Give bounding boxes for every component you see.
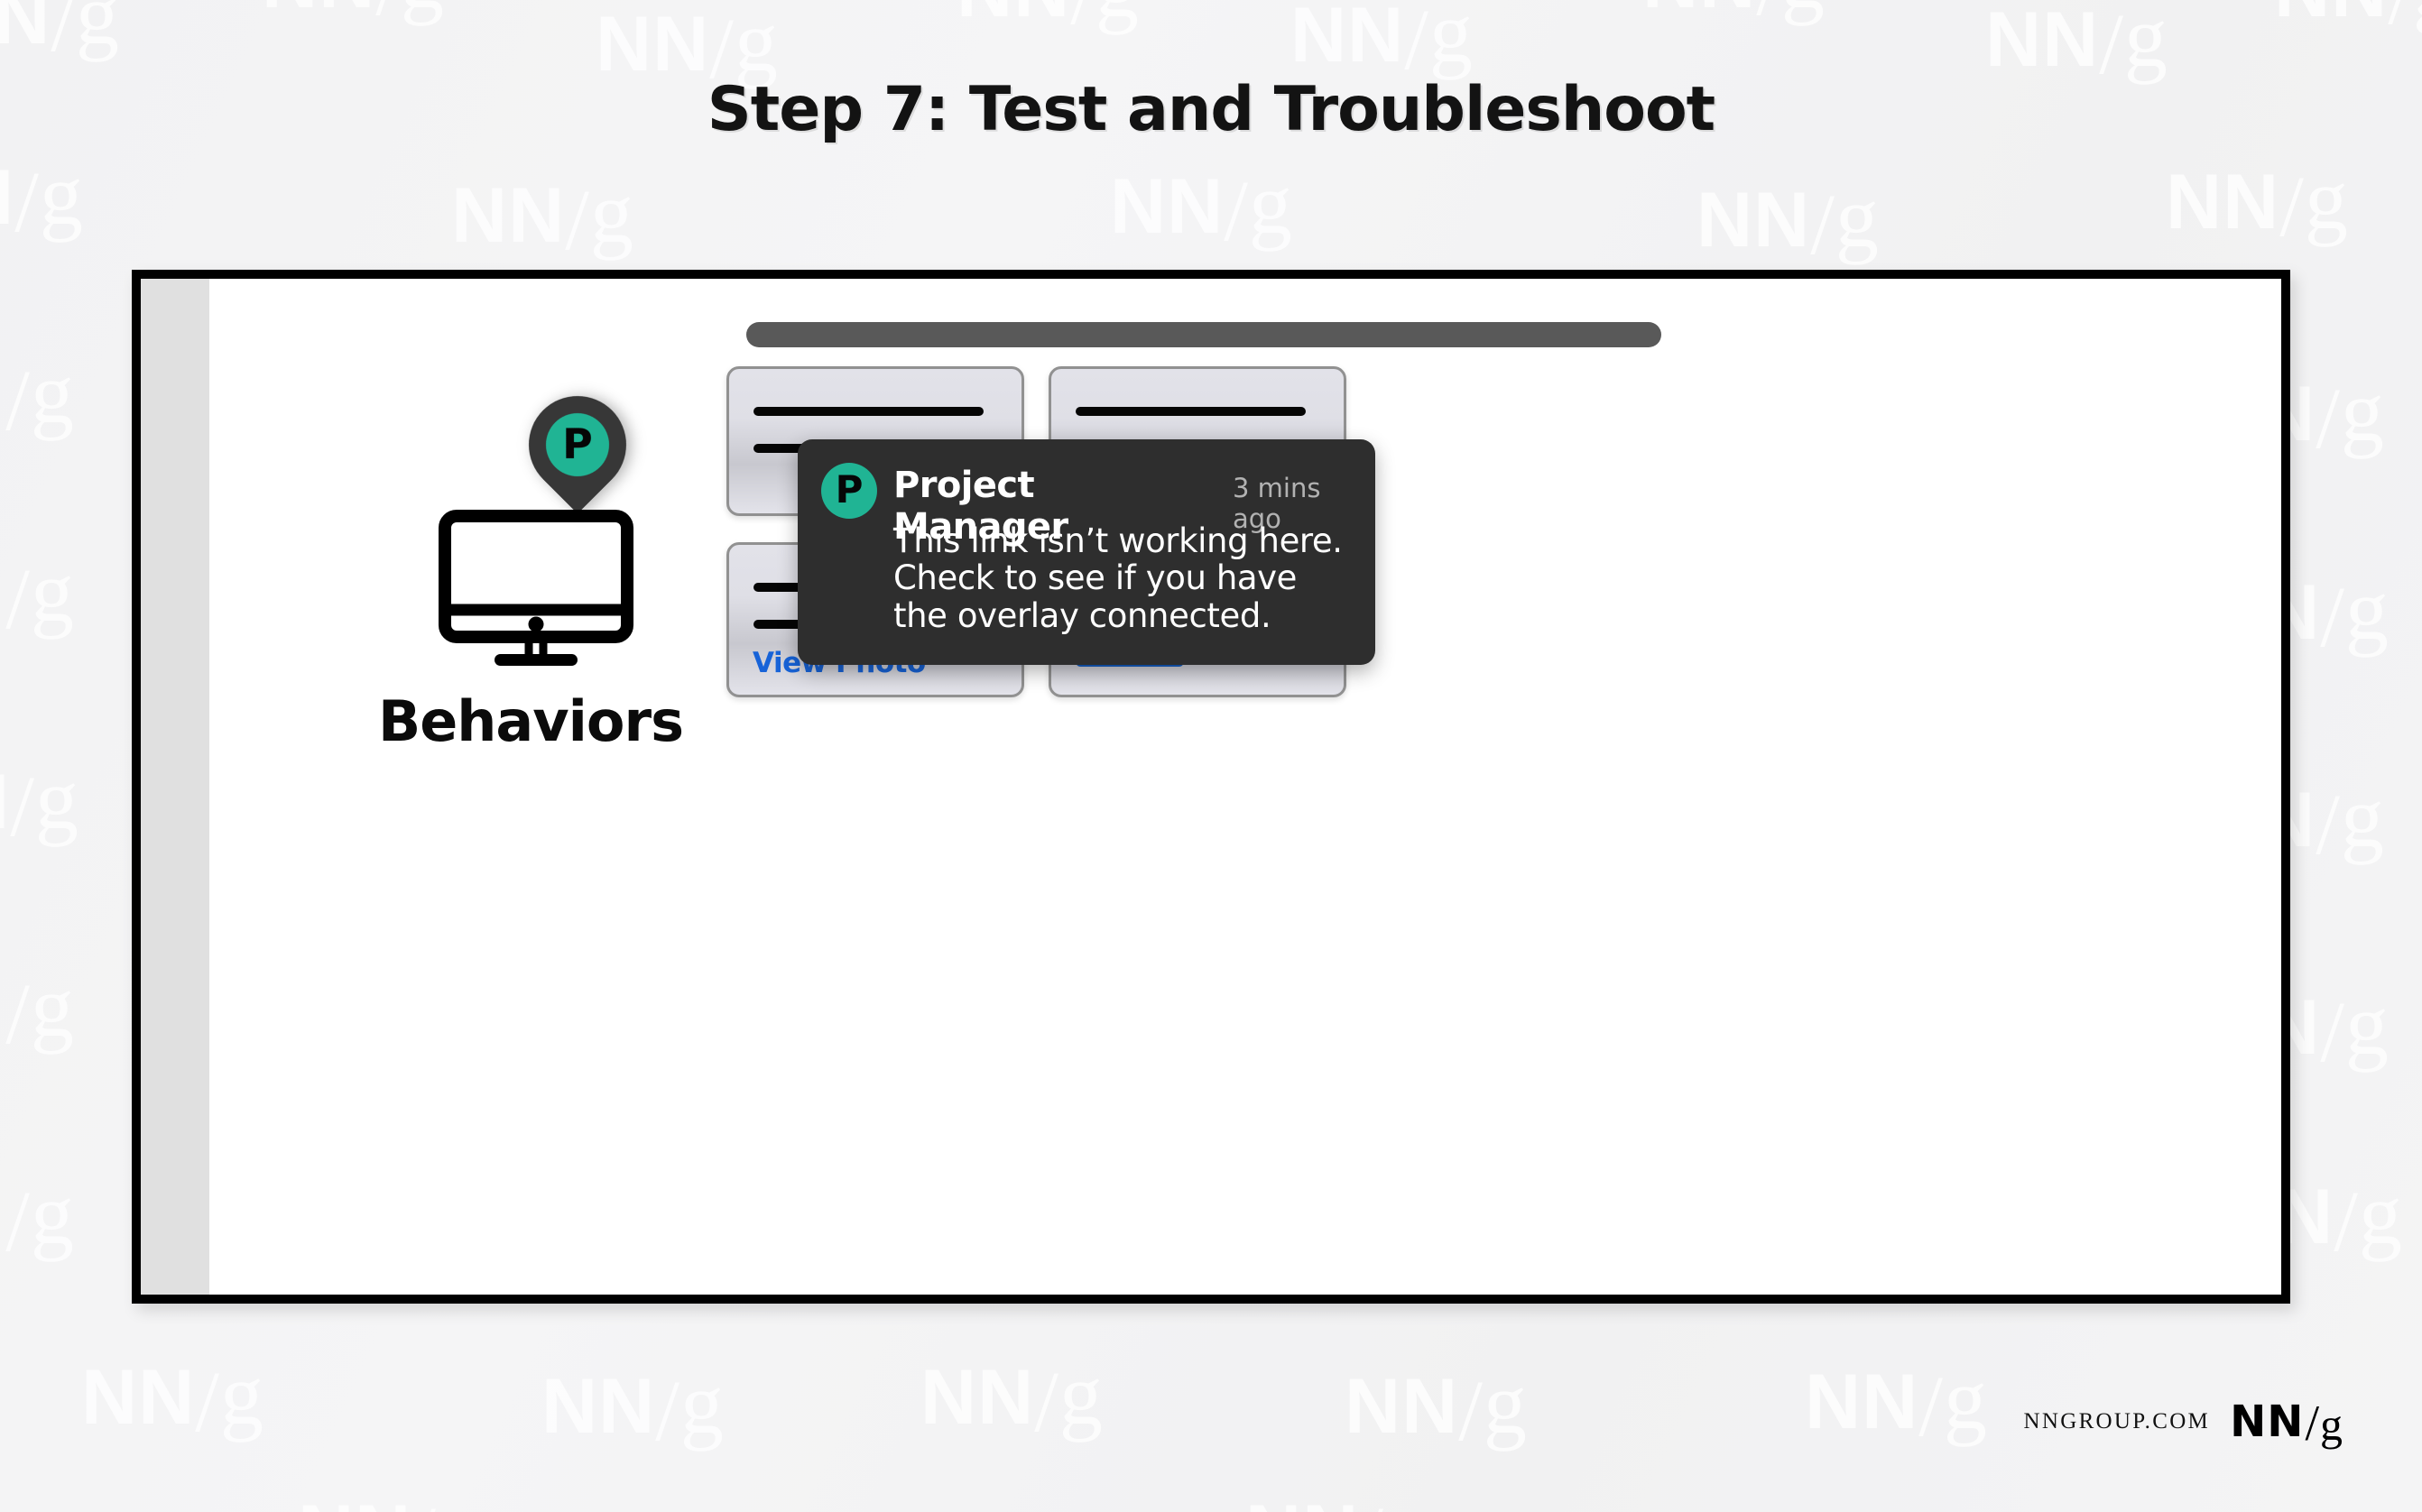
watermark-tile: NN/g [81, 1344, 264, 1444]
comment-popup[interactable]: P Project Manager 3 mins ago This link i… [798, 439, 1375, 665]
nng-logo-slash: / [2305, 1398, 2319, 1449]
watermark-tile: NN/g [1642, 0, 1826, 28]
comment-avatar: P [821, 463, 877, 519]
prototype-canvas: P Behaviors [209, 279, 2281, 1295]
nng-logo: NN / g [2230, 1397, 2343, 1447]
page-title: Step 7: Test and Troubleshoot [0, 74, 2422, 145]
watermark-tile: NN/g [451, 162, 634, 263]
watermark-tile: NN/g [298, 1480, 481, 1512]
watermark-tile: NN/g [1290, 0, 1474, 82]
watermark-tile: NN/g [1110, 153, 1293, 254]
watermark-tile: NN/g [0, 749, 79, 849]
watermark-tile: NN/g [541, 1353, 725, 1453]
header-skeleton-bar-1 [746, 322, 1661, 347]
desktop-monitor-icon [439, 510, 633, 667]
watermark-tile: NN/g [0, 144, 84, 244]
prototype-frame: P Behaviors [132, 270, 2290, 1304]
watermark-tile: NN/g [0, 541, 75, 641]
watermark-tile: NN/g [2166, 149, 2349, 249]
card-text-line [753, 407, 984, 416]
watermark-tile: NN/g [0, 0, 120, 64]
card-text-line [1076, 407, 1306, 416]
watermark-tile: NN/g [2274, 0, 2422, 37]
watermark-tile: NN/g [1805, 1349, 1988, 1449]
behaviors-label: Behaviors [323, 688, 738, 754]
prototype-left-rail [141, 279, 209, 1295]
comment-body: This link isn’t working here. Check to s… [893, 522, 1357, 634]
watermark-tile: NN/g [0, 1164, 75, 1264]
watermark-tile: NN/g [262, 0, 445, 28]
watermark-tile: NN/g [0, 956, 75, 1056]
footer-logo: NNGROUP.COM NN / g [2024, 1397, 2343, 1447]
comment-pin-icon[interactable]: P [509, 376, 647, 514]
watermark-tile: NN/g [1245, 1480, 1428, 1512]
watermark-tile: NN/g [920, 1344, 1104, 1444]
nng-logo-g: g [2320, 1402, 2343, 1447]
comment-pin-letter: P [562, 423, 593, 465]
nng-logo-nn: NN [2230, 1400, 2304, 1443]
comment-pin-badge: P [546, 413, 609, 476]
watermark-tile: NN/g [1345, 1353, 1528, 1453]
watermark-tile: NN/g [957, 0, 1140, 37]
watermark-tile: NN/g [0, 343, 75, 443]
watermark-tile: NN/g [1696, 167, 1880, 267]
footer-url: NNGROUP.COM [2024, 1409, 2211, 1434]
comment-avatar-letter: P [836, 471, 864, 509]
